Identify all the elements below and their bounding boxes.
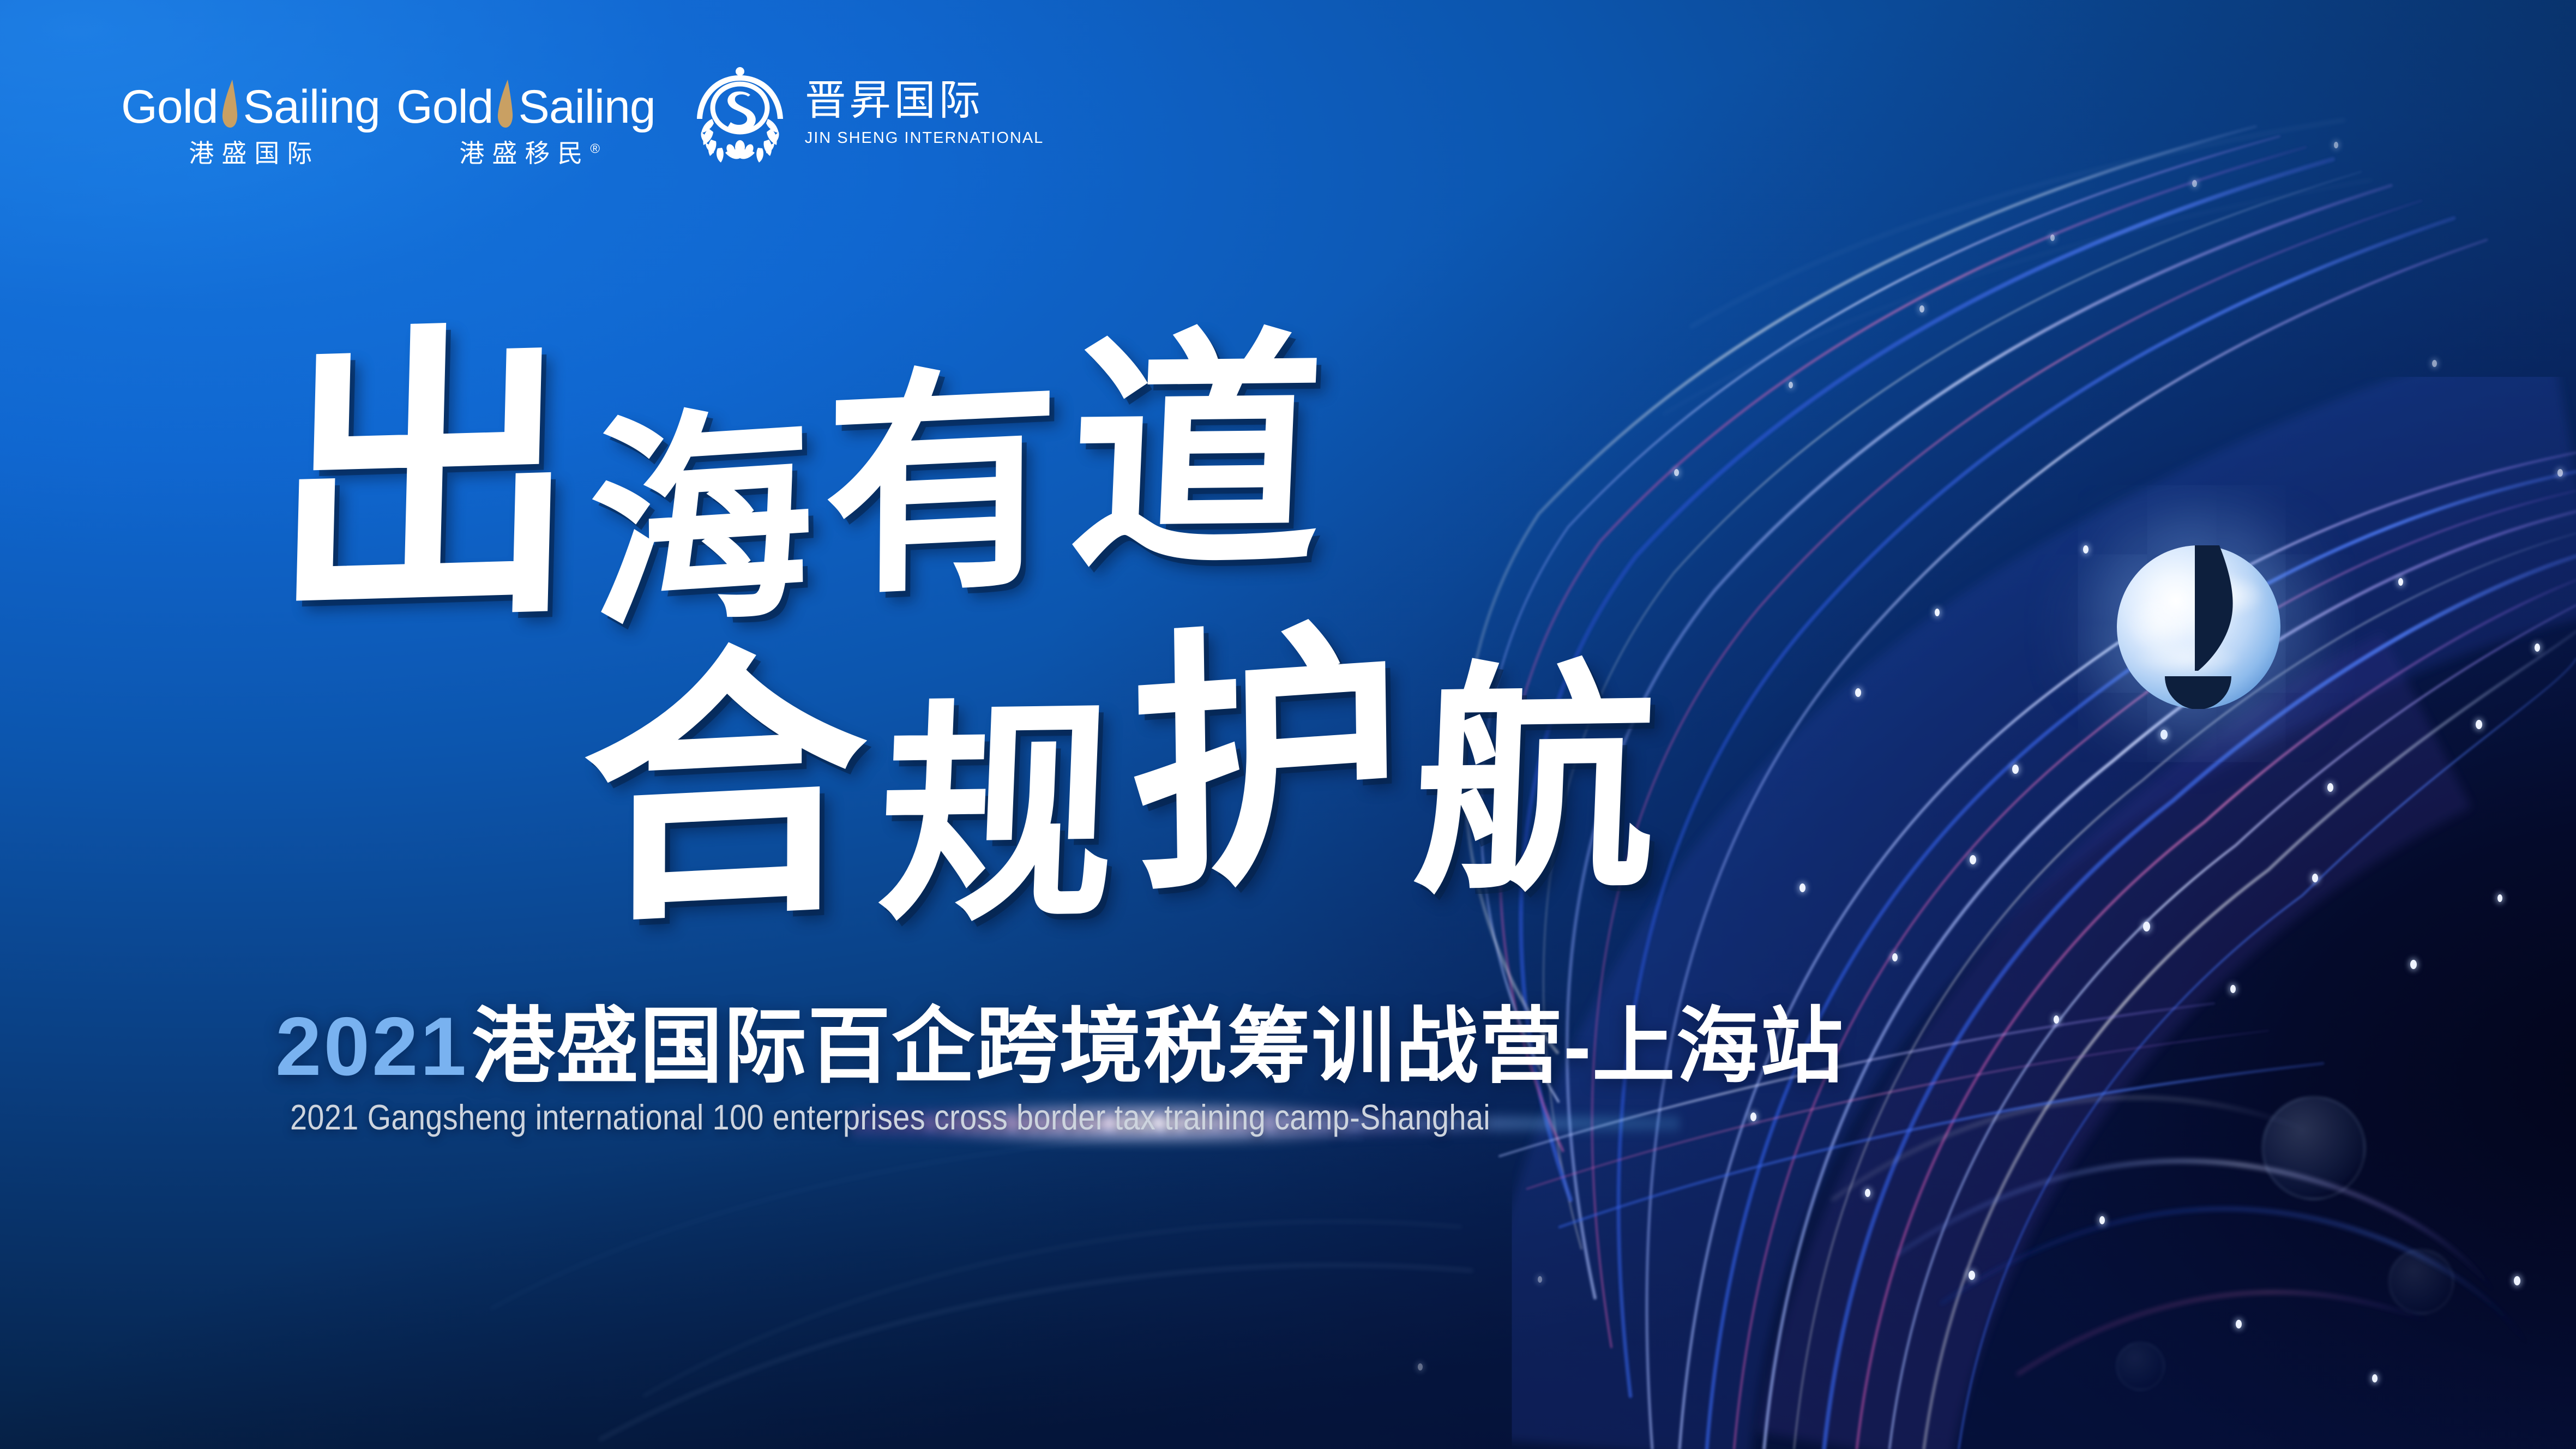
- logo-word-sailing: Sailing: [519, 83, 655, 130]
- registered-trademark-icon: ®: [590, 142, 600, 157]
- logo-chinese-name: 港盛移民®: [452, 141, 600, 166]
- event-subtitle-english: 2021 Gangsheng international 100 enterpr…: [290, 1099, 1490, 1135]
- emblem-text-block: 晋昇国际 JIN SHENG INTERNATIONAL: [805, 80, 1044, 146]
- logo-gold-sailing-immigration[interactable]: Gold Sailing 港盛移民®: [396, 82, 655, 166]
- calligraphy-char: 出: [269, 321, 593, 635]
- calligraphy-char: 有: [824, 361, 1072, 607]
- bokeh-circle: [2388, 1249, 2454, 1314]
- sailboat-silhouette: [2117, 545, 2280, 709]
- calligraphy-char: 航: [1411, 659, 1674, 903]
- logo-word-sailing: Sailing: [243, 83, 380, 130]
- promo-banner: Gold Sailing 港盛国际 Gold Sailing: [0, 0, 2576, 1449]
- logo-bar: Gold Sailing 港盛国际 Gold Sailing: [121, 64, 1044, 166]
- logo-jin-sheng-international[interactable]: 晋昇国际 JIN SHENG INTERNATIONAL: [689, 62, 1044, 164]
- event-subtitle-text: 港盛国际百企跨境税筹训战营-上海站: [472, 1000, 1844, 1093]
- headline-calligraphy-line-2: 合规护航: [581, 604, 1674, 922]
- calligraphy-char: 海: [588, 401, 826, 639]
- bokeh-circle: [2116, 1342, 2165, 1391]
- emblem-chinese-name: 晋昇国际: [805, 80, 1044, 122]
- calligraphy-char: 护: [1128, 614, 1418, 906]
- logo-word-gold: Gold: [396, 83, 493, 130]
- sail-icon: [219, 80, 240, 130]
- emblem-english-name: JIN SHENG INTERNATIONAL: [805, 130, 1044, 146]
- logo-chinese-name: 港盛国际: [181, 141, 320, 166]
- sail-icon: [495, 80, 515, 130]
- calligraphy-char: 道: [1066, 327, 1339, 581]
- logo-wordmark: Gold Sailing: [121, 82, 380, 132]
- bokeh-circle: [2262, 1096, 2366, 1200]
- event-year: 2021: [275, 1000, 468, 1093]
- logo-wordmark: Gold Sailing: [396, 82, 655, 132]
- headline-calligraphy-line-1: 出海有道: [272, 279, 1335, 633]
- calligraphy-char: 规: [876, 695, 1133, 934]
- logo-gold-sailing-international[interactable]: Gold Sailing 港盛国际: [121, 82, 380, 166]
- event-subtitle-chinese: 2021港盛国际百企跨境税筹训战营-上海站: [275, 1005, 1844, 1088]
- moon-sailboat-artwork: [2117, 545, 2280, 709]
- logo-word-gold: Gold: [121, 83, 218, 130]
- calligraphy-char: 合: [583, 639, 882, 937]
- jinsheng-crest-icon: [689, 62, 791, 164]
- logo-chinese-text: 港盛移民: [459, 139, 590, 167]
